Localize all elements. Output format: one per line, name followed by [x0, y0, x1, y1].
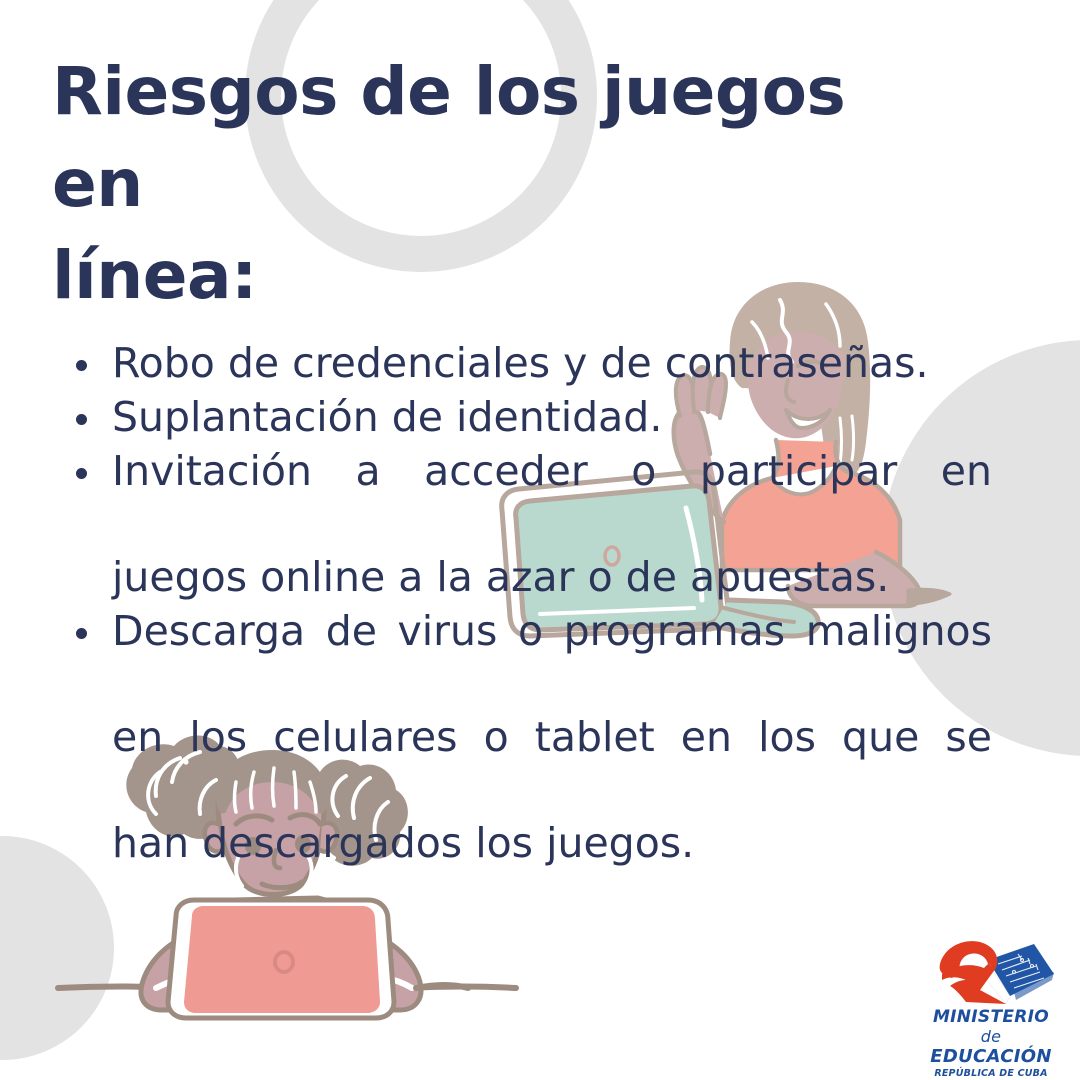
open-book-icon	[918, 934, 1064, 1008]
list-item: Invitación a acceder o participar en jue…	[62, 445, 992, 604]
list-item-line: Descarga de virus o programas malignos	[112, 605, 992, 711]
logo-de-text: de	[981, 1027, 1002, 1046]
list-item-text: Suplantación de identidad.	[112, 391, 992, 444]
list-item: Descarga de virus o programas malignos e…	[62, 605, 992, 870]
list-item-line: en los celulares o tablet en los que se	[112, 711, 992, 817]
list-item-line: Invitación a acceder o participar en	[112, 445, 992, 551]
ministry-logo: MINISTERIO de EDUCACIÓN REPÚBLICA DE CUB…	[918, 934, 1064, 1060]
logo-ministerio-text: MINISTERIO	[918, 1008, 1064, 1027]
list-item: Robo de credenciales y de contraseñas.	[62, 337, 992, 390]
logo-republica-text: REPÚBLICA DE CUBA	[918, 1069, 1064, 1080]
risk-list: Robo de credenciales y de contraseñas. S…	[62, 337, 992, 871]
list-item-text: Robo de credenciales y de contraseñas.	[112, 337, 992, 390]
list-item-line: juegos online a la azar o de apuestas.	[112, 551, 992, 604]
infographic-poster: Riesgos de los juegos en línea: Robo de …	[0, 0, 1080, 1080]
logo-educacion-word: EDUCACIÓN	[930, 1046, 1051, 1067]
logo-educacion-text: de EDUCACIÓN	[918, 1027, 1064, 1067]
list-item-line: han descargados los juegos.	[112, 817, 992, 870]
list-item: Suplantación de identidad.	[62, 391, 992, 444]
page-title: Riesgos de los juegos en línea:	[52, 46, 952, 322]
